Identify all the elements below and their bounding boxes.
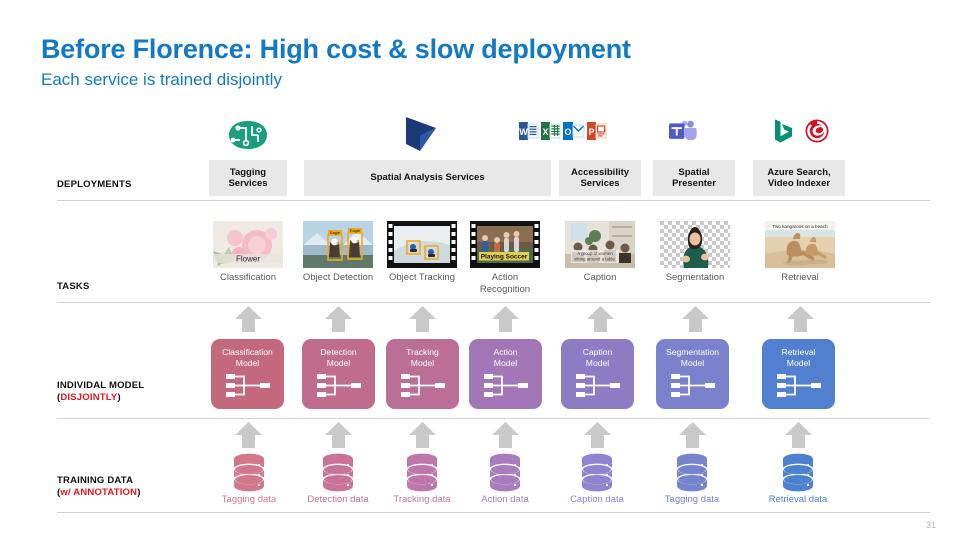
row-label-individual-model-line1: INDIVIDAL MODEL [57, 380, 144, 392]
arrow-up-tasks-6 [682, 306, 709, 337]
outlook-icon: O [563, 121, 585, 141]
task-caption-caption: Caption [555, 272, 645, 284]
person-cutout-checkerboard [660, 221, 730, 268]
soccer-filmstrip: Playing Soccer [470, 221, 540, 268]
deployment-label: Spatial Analysis Services [370, 172, 484, 184]
database-label-tagging-2: Tagging data [647, 494, 737, 505]
deployment-icons-spatial-analysis [400, 114, 442, 154]
arrow-up-tasks-3 [409, 306, 436, 337]
arrow-up-tasks-5 [587, 306, 614, 337]
model-network-icon [401, 373, 445, 404]
deployment-icons-spatial-presenter [668, 120, 698, 142]
database-label-retrieval: Retrieval data [753, 494, 843, 505]
database-cylinder-icon [578, 453, 616, 493]
model-network-icon [484, 373, 528, 404]
svg-text:Eagle: Eagle [330, 230, 341, 235]
database-cylinder-icon [403, 453, 441, 493]
database-label-tagging: Tagging data [204, 494, 294, 505]
model-label: RetrievalModel [782, 339, 816, 368]
deployment-label: Azure Search,Video Indexer [767, 167, 830, 190]
database-icon-tracking[interactable] [403, 453, 441, 498]
deployment-box-accessibility-services[interactable]: AccessibilityServices [559, 160, 641, 196]
annotation-highlight: w/ ANNOTATION [60, 487, 137, 498]
task-caption-action-recognition: ActionRecognition [460, 272, 550, 295]
excel-icon: X [541, 121, 561, 141]
arrow-up-data-4 [492, 422, 519, 453]
model-label: ActionModel [494, 339, 518, 368]
database-cylinder-icon [673, 453, 711, 493]
deployment-icons-accessibility: W X O P [519, 121, 607, 141]
arrow-up-tasks-2 [325, 306, 352, 337]
divider-deployments [57, 200, 930, 201]
model-label: TrackingModel [406, 339, 439, 368]
row-label-training-data: TRAINING DATA (w/ ANNOTATION) [57, 475, 141, 499]
svg-text:P: P [588, 127, 594, 137]
task-caption-classification: Classification [203, 272, 293, 284]
row-label-training-data-line1: TRAINING DATA [57, 475, 141, 487]
model-network-icon [671, 373, 715, 404]
model-network-icon [317, 373, 361, 404]
database-cylinder-icon [230, 453, 268, 493]
arrow-up-tasks-7 [787, 306, 814, 337]
task-caption-object-tracking: Object Tracking [377, 272, 467, 284]
deployment-box-spatial-presenter[interactable]: SpatialPresenter [653, 160, 735, 196]
task-thumbnail-segmentation[interactable] [660, 221, 730, 268]
row-label-deployments: DEPLOYMENTS [57, 179, 132, 191]
page-title: Before Florence: High cost & slow deploy… [41, 34, 631, 65]
model-box-segmentation[interactable]: SegmentationModel [656, 339, 729, 409]
svg-text:Playing Soccer: Playing Soccer [481, 254, 528, 261]
two-eagles-photo: EagleEagle [303, 221, 373, 268]
disjointly-highlight: DISJOINTLY [60, 392, 117, 403]
task-thumbnail-classification[interactable]: Flower [213, 221, 283, 268]
task-caption-retrieval: Retrieval [755, 272, 845, 284]
svg-text:A group of women: A group of women [577, 251, 613, 256]
model-label: ClassificationModel [222, 339, 273, 368]
women-at-table-photo: A group of womensitting around a table. [565, 221, 635, 268]
deployment-box-azure-search-video-indexer[interactable]: Azure Search,Video Indexer [753, 160, 845, 196]
row-label-training-data-line2: (w/ ANNOTATION) [57, 487, 141, 499]
svg-text:Eagle: Eagle [350, 228, 361, 233]
database-icon-caption[interactable] [578, 453, 616, 498]
brain-circuit-icon [219, 118, 277, 152]
arrow-up-data-6 [679, 422, 706, 453]
divider-models [57, 418, 930, 419]
arrow-up-data-5 [584, 422, 611, 453]
database-cylinder-icon [779, 453, 817, 493]
task-thumbnail-caption[interactable]: A group of womensitting around a table. [565, 221, 635, 268]
deployment-label: SpatialPresenter [672, 167, 716, 190]
slide-number: 31 [926, 520, 936, 530]
task-thumbnail-retrieval[interactable]: Two kangaroos on a beach [765, 221, 835, 268]
svg-text:sitting around a table.: sitting around a table. [574, 257, 616, 262]
model-network-icon [226, 373, 270, 404]
svg-text:O: O [564, 127, 571, 137]
row-label-tasks: TASKS [57, 281, 90, 293]
model-network-icon [576, 373, 620, 404]
row-label-individual-model-line2: (DISJOINTLY) [57, 392, 144, 404]
slide-canvas: Before Florence: High cost & slow deploy… [0, 0, 960, 540]
row-label-individual-model: INDIVIDAL MODEL (DISJOINTLY) [57, 380, 144, 404]
deployment-label: AccessibilityServices [571, 167, 629, 190]
divider-training [57, 512, 930, 513]
arrow-up-data-1 [235, 422, 262, 453]
powerpoint-icon: P [587, 121, 607, 141]
model-box-retrieval[interactable]: RetrievalModel [762, 339, 835, 409]
cyclists-filmstrip [387, 221, 457, 268]
task-thumbnail-action-recognition[interactable]: Playing Soccer [470, 221, 540, 268]
svg-text:Flower: Flower [236, 255, 260, 264]
task-caption-segmentation: Segmentation [650, 272, 740, 284]
page-subtitle: Each service is trained disjointly [41, 70, 282, 90]
dynamics-icon [400, 114, 442, 154]
arrow-up-tasks-1 [235, 306, 262, 337]
arrow-up-data-2 [325, 422, 352, 453]
pink-flower-photo: Flower [213, 221, 283, 268]
database-label-tracking: Tracking data [377, 494, 467, 505]
bing-icon [771, 118, 795, 144]
model-label: CaptionModel [583, 339, 613, 368]
model-network-icon [777, 373, 821, 404]
database-icon-retrieval[interactable] [779, 453, 817, 498]
divider-tasks [57, 302, 930, 303]
database-icon-tagging[interactable] [230, 453, 268, 498]
arrow-up-tasks-4 [492, 306, 519, 337]
database-cylinder-icon [319, 453, 357, 493]
arrow-up-data-7 [785, 422, 812, 453]
deployment-label: TaggingServices [228, 167, 267, 190]
database-icon-action[interactable] [486, 453, 524, 498]
kangaroos-beach-photo: Two kangaroos on a beach [765, 221, 835, 268]
svg-text:Two kangaroos on a beach: Two kangaroos on a beach [772, 224, 828, 229]
svg-text:W: W [519, 127, 528, 137]
deployment-box-spatial-analysis-services[interactable]: Spatial Analysis Services [304, 160, 551, 196]
task-caption-object-detection: Object Detection [293, 272, 383, 284]
teams-icon [668, 120, 698, 142]
video-indexer-icon [803, 118, 831, 144]
task-thumbnail-object-detection[interactable]: EagleEagle [303, 221, 373, 268]
database-icon-detection[interactable] [319, 453, 357, 498]
model-label: SegmentationModel [666, 339, 719, 368]
database-icon-tagging-2[interactable] [673, 453, 711, 498]
task-thumbnail-object-tracking[interactable] [387, 221, 457, 268]
model-box-caption[interactable]: CaptionModel [561, 339, 634, 409]
word-icon: W [519, 121, 539, 141]
database-label-caption: Caption data [552, 494, 642, 505]
deployment-box-tagging-services[interactable]: TaggingServices [209, 160, 287, 196]
model-box-action[interactable]: ActionModel [469, 339, 542, 409]
model-box-tracking[interactable]: TrackingModel [386, 339, 459, 409]
model-box-classification[interactable]: ClassificationModel [211, 339, 284, 409]
database-label-action: Action data [460, 494, 550, 505]
database-label-detection: Detection data [293, 494, 383, 505]
model-label: DetectionModel [320, 339, 356, 368]
deployment-icons-azure-search [771, 118, 831, 144]
svg-text:X: X [542, 127, 548, 137]
arrow-up-data-3 [409, 422, 436, 453]
deployment-icons-tagging [219, 118, 277, 152]
database-cylinder-icon [486, 453, 524, 493]
model-box-detection[interactable]: DetectionModel [302, 339, 375, 409]
